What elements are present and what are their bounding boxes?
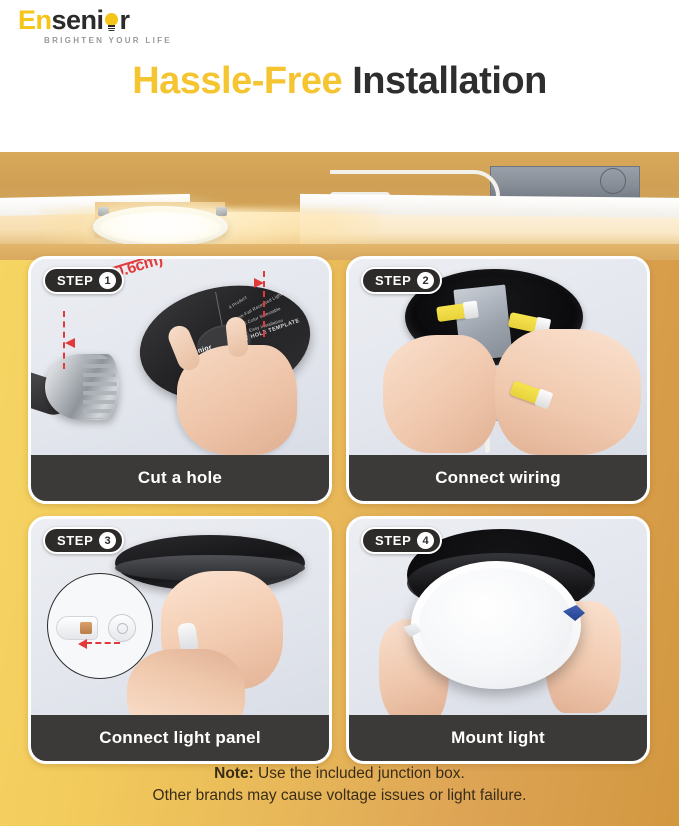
step-number-3: 3 <box>99 532 116 549</box>
page-title-rest: Installation <box>352 60 547 102</box>
hand-left <box>383 335 499 453</box>
logo-text-seni: seni <box>52 5 104 35</box>
step-badge-label-3: STEP <box>57 533 93 548</box>
note-label: Note: <box>214 765 254 782</box>
step-card-4: STEP 4 Mount light <box>346 516 650 764</box>
logo-tagline: BRIGHTEN YOUR LIFE <box>44 36 172 45</box>
logo-wordmark: Enseni r <box>18 5 178 35</box>
step-number-1: 1 <box>99 272 116 289</box>
note-line-1: Use the included junction box. <box>254 765 465 782</box>
connection-arrow <box>86 642 120 644</box>
page-title: Hassle-Free Installation <box>0 60 679 103</box>
dimension-arrow-left <box>65 338 75 348</box>
page-title-highlight: Hassle-Free <box>132 60 342 102</box>
hole-saw-teeth <box>83 355 117 419</box>
step-number-4: 4 <box>417 532 434 549</box>
step-badge-1: STEP 1 <box>43 267 124 294</box>
connector-plug-pin <box>80 622 92 634</box>
infographic-page: Enseni r BRIGHTEN YOUR LIFE Hassle-Free … <box>0 0 679 826</box>
hand-lower <box>127 649 245 719</box>
step-card-3: STEP 3 Connect light panel <box>28 516 332 764</box>
step-badge-4: STEP 4 <box>361 527 442 554</box>
logo-text-r: r <box>120 5 130 35</box>
step-badge-3: STEP 3 <box>43 527 124 554</box>
step-caption-1: Cut a hole <box>31 455 329 501</box>
hero-photo-installed-light <box>0 152 679 260</box>
header: Enseni r BRIGHTEN YOUR LIFE Hassle-Free … <box>0 0 679 152</box>
logo-text-en: En <box>18 5 52 35</box>
step-badge-label-2: STEP <box>375 273 411 288</box>
brand-logo: Enseni r BRIGHTEN YOUR LIFE <box>18 5 178 47</box>
step-badge-label-4: STEP <box>375 533 411 548</box>
note-line-2: Other brands may cause voltage issues or… <box>0 785 679 807</box>
led-panel <box>411 561 581 689</box>
hero-junction-box-knockout <box>600 168 626 194</box>
steps-grid: Ensenior CUT HOLE TEMPLATE 4 Product Ant… <box>28 256 651 764</box>
lightbulb-icon <box>104 12 120 32</box>
step-card-2: STEP 2 Connect wiring <box>346 256 650 504</box>
connector-socket <box>108 614 136 642</box>
dimension-arrow-right <box>254 278 264 288</box>
step-card-1: Ensenior CUT HOLE TEMPLATE 4 Product Ant… <box>28 256 332 504</box>
led-panel-face <box>419 568 573 682</box>
step-caption-3: Connect light panel <box>31 715 329 761</box>
step-number-2: 2 <box>417 272 434 289</box>
footer-note: Note: Use the included junction box. Oth… <box>0 763 679 807</box>
step-caption-2: Connect wiring <box>349 455 647 501</box>
step-caption-4: Mount light <box>349 715 647 761</box>
step-badge-2: STEP 2 <box>361 267 442 294</box>
step-badge-label-1: STEP <box>57 273 93 288</box>
hero-panel-face <box>100 212 221 243</box>
